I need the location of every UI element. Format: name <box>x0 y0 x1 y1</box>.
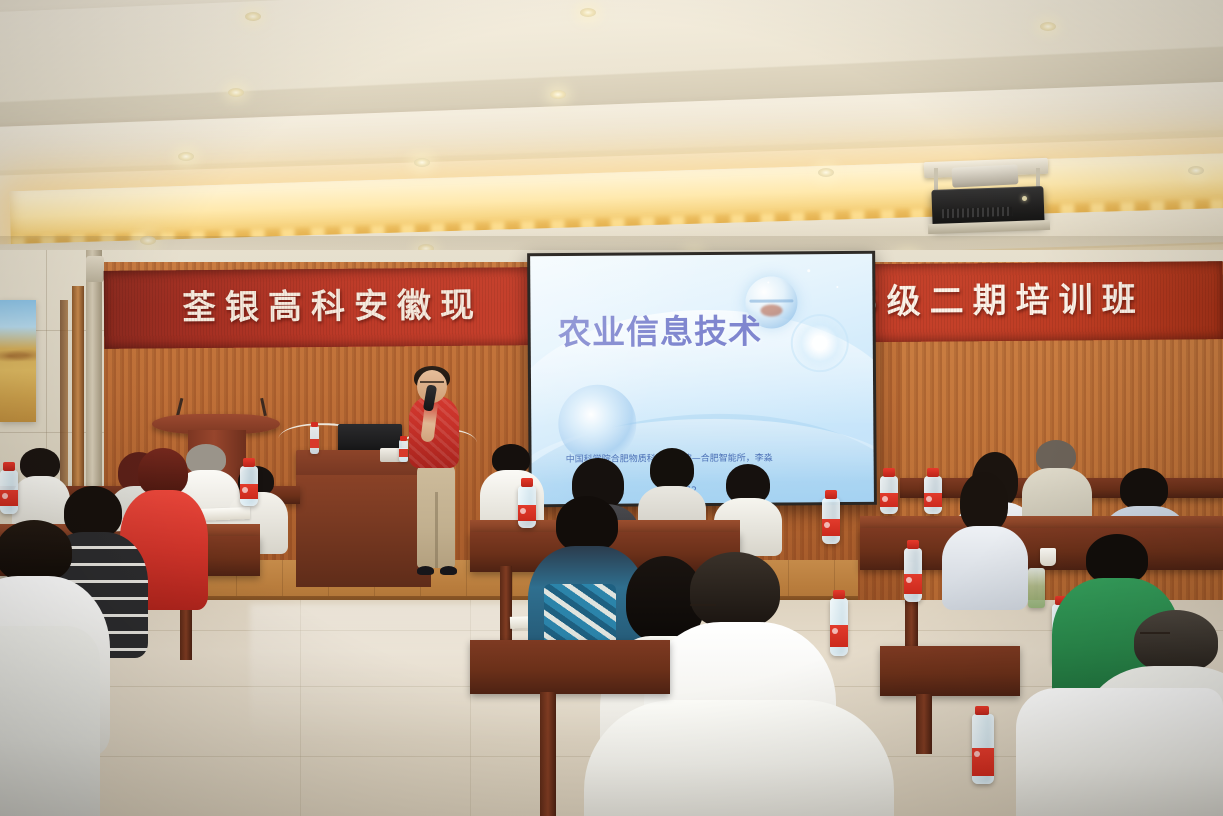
banner-text-right: 6级二期培训班 <box>854 266 1145 337</box>
person-hair <box>1086 534 1148 584</box>
water-bottle[interactable] <box>518 486 536 528</box>
bottle-cap-icon <box>521 478 533 487</box>
bottle-cap-icon <box>833 590 845 599</box>
banner-text-left: 荃银高科安徽现 <box>182 272 484 343</box>
presenter-table-front <box>296 475 431 587</box>
presenter-trousers <box>417 464 455 568</box>
downlight-icon <box>1040 22 1056 31</box>
paper-cup[interactable] <box>1040 548 1056 566</box>
person-shirt <box>584 700 894 816</box>
person-shirt <box>1016 688 1223 816</box>
water-bottle[interactable] <box>240 466 258 506</box>
bench-desk <box>880 646 1020 696</box>
wheat-field-poster <box>0 300 36 422</box>
bottle-cap-icon <box>975 706 989 715</box>
downlight-icon <box>580 8 596 17</box>
person-hair <box>138 448 188 496</box>
bottle-label <box>972 748 994 776</box>
person-hair <box>650 448 694 490</box>
bench-desk-leg <box>540 692 556 816</box>
person-hair <box>64 486 122 538</box>
bottle-cap-icon <box>400 436 407 441</box>
slide-sparkle-icon <box>836 286 838 288</box>
presenter-shoe <box>417 566 434 575</box>
glasses-icon <box>1140 632 1170 640</box>
water-bottle <box>310 426 319 454</box>
person-hair <box>0 520 72 582</box>
bottle-label <box>924 493 942 507</box>
water-bottle[interactable] <box>924 476 942 514</box>
person-shirt <box>942 526 1028 610</box>
person-hair <box>960 472 1008 532</box>
bench-desk-leg <box>916 694 932 754</box>
slide-title: 农业信息技术 <box>558 304 762 353</box>
bottle-label <box>310 439 319 448</box>
bottle-label <box>830 625 848 647</box>
bottle-label <box>518 505 536 521</box>
person-hair <box>556 496 618 552</box>
downlight-icon <box>228 88 244 97</box>
projector-status-led-icon <box>1022 196 1027 201</box>
bottle-label <box>0 490 18 506</box>
person-hair <box>690 552 780 628</box>
water-bottle[interactable] <box>830 598 848 656</box>
water-bottle[interactable] <box>880 476 898 514</box>
bottle-cap-icon <box>883 468 895 477</box>
downlight-icon <box>245 12 261 21</box>
slide-sparkle-icon <box>808 269 811 272</box>
presenter-shoe <box>440 566 457 575</box>
bottle-label <box>904 574 922 594</box>
person-hair <box>1134 610 1218 672</box>
ceiling-projector <box>918 160 1058 230</box>
water-bottle[interactable] <box>0 470 18 514</box>
downlight-icon <box>818 168 834 177</box>
water-bottle[interactable] <box>822 498 840 544</box>
person-hair <box>1120 468 1168 510</box>
lecture-hall-photo: 荃银高科安徽现 6级二期培训班 农业信息技术 中国科学院合肥物质科学研究院—合肥… <box>0 0 1223 816</box>
slide-ring-graphic <box>791 313 849 371</box>
tea-glass[interactable] <box>1028 568 1045 608</box>
bottle-cap-icon <box>825 490 837 499</box>
bottle-cap-icon <box>907 540 919 549</box>
bottle-cap-icon <box>243 458 255 467</box>
person-pattern <box>544 584 616 646</box>
water-bottle[interactable] <box>972 714 994 784</box>
bench-desk <box>470 640 670 694</box>
projector-mount <box>952 164 1019 187</box>
downlight-icon <box>1188 166 1204 175</box>
glasses-icon <box>690 604 716 612</box>
bottle-cap-icon <box>311 422 318 427</box>
bottle-cap-icon <box>927 468 939 477</box>
person-shirt <box>0 626 100 816</box>
bottle-label <box>822 519 840 536</box>
bottle-cap-icon <box>3 462 15 471</box>
downlight-icon <box>414 158 430 167</box>
bottle-label <box>399 449 408 457</box>
wall-speaker-icon <box>86 256 104 282</box>
downlight-icon <box>550 90 566 99</box>
water-bottle <box>399 440 408 462</box>
water-bottle[interactable] <box>904 548 922 602</box>
bottle-label <box>240 484 258 499</box>
bottle-label <box>880 493 898 507</box>
downlight-icon <box>178 152 194 161</box>
